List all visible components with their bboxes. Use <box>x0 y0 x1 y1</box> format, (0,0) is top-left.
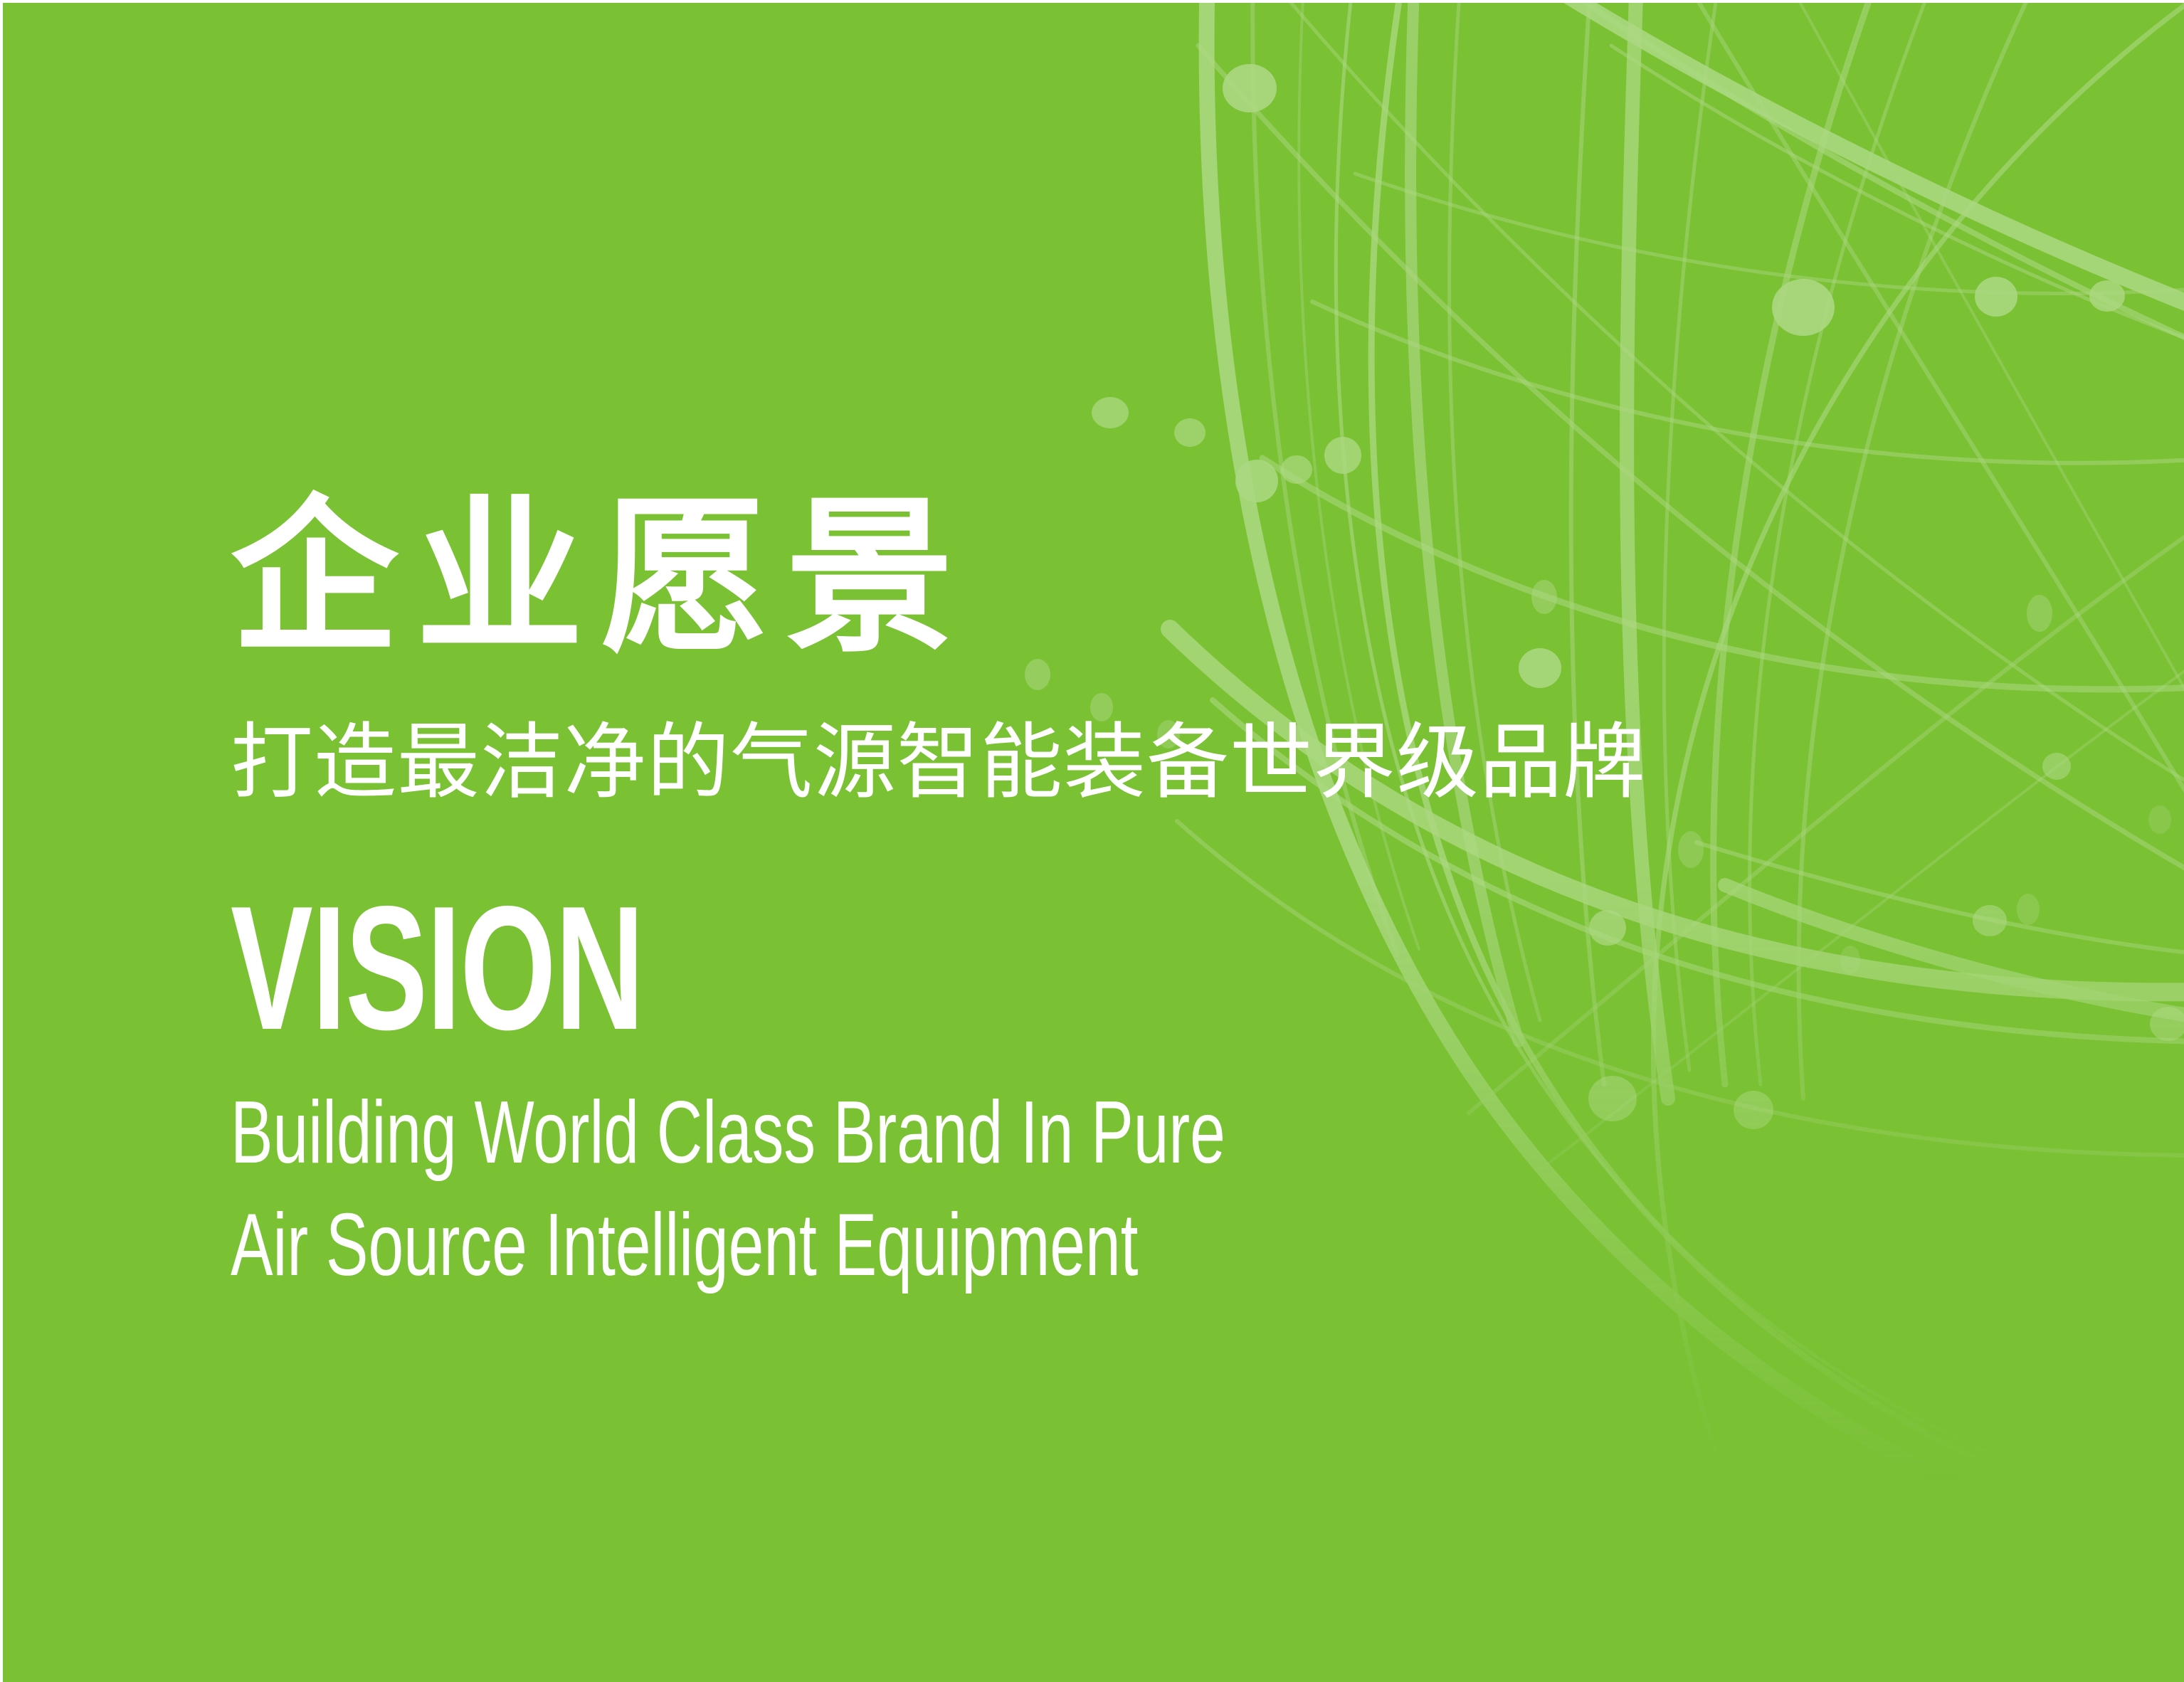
floating-dot <box>1174 418 1206 447</box>
globe-node <box>1223 64 1277 112</box>
globe-node <box>1772 279 1835 336</box>
floating-dot <box>2148 805 2171 834</box>
vision-slide: 企业愿景 打造最洁净的气源智能装备世界级品牌 VISION Building W… <box>0 0 2184 1682</box>
globe-node <box>2042 753 2071 780</box>
globe-node <box>1975 277 2017 317</box>
floating-dot <box>2017 894 2040 925</box>
globe-node <box>1324 437 1361 474</box>
vision-text-block: 企业愿景 打造最洁净的气源智能装备世界级品牌 VISION Building W… <box>231 494 1938 1289</box>
english-tagline-line-1: Building World Class Brand In Pure <box>231 1089 1460 1177</box>
floating-dot <box>1092 397 1129 428</box>
globe-node <box>1973 905 2007 936</box>
floating-dot <box>2027 595 2052 632</box>
globe-node <box>2150 1007 2184 1041</box>
floating-dot <box>1281 455 1312 484</box>
english-tagline: Building World Class Brand In Pure Air S… <box>231 1089 1938 1289</box>
english-tagline-line-2: Air Source Intelligent Equipment <box>231 1201 1460 1289</box>
globe-node <box>2089 280 2125 312</box>
chinese-subtitle: 打造最洁净的气源智能装备世界级品牌 <box>231 721 1938 804</box>
english-heading: VISION <box>231 879 1426 1056</box>
chinese-title: 企业愿景 <box>231 494 1938 662</box>
